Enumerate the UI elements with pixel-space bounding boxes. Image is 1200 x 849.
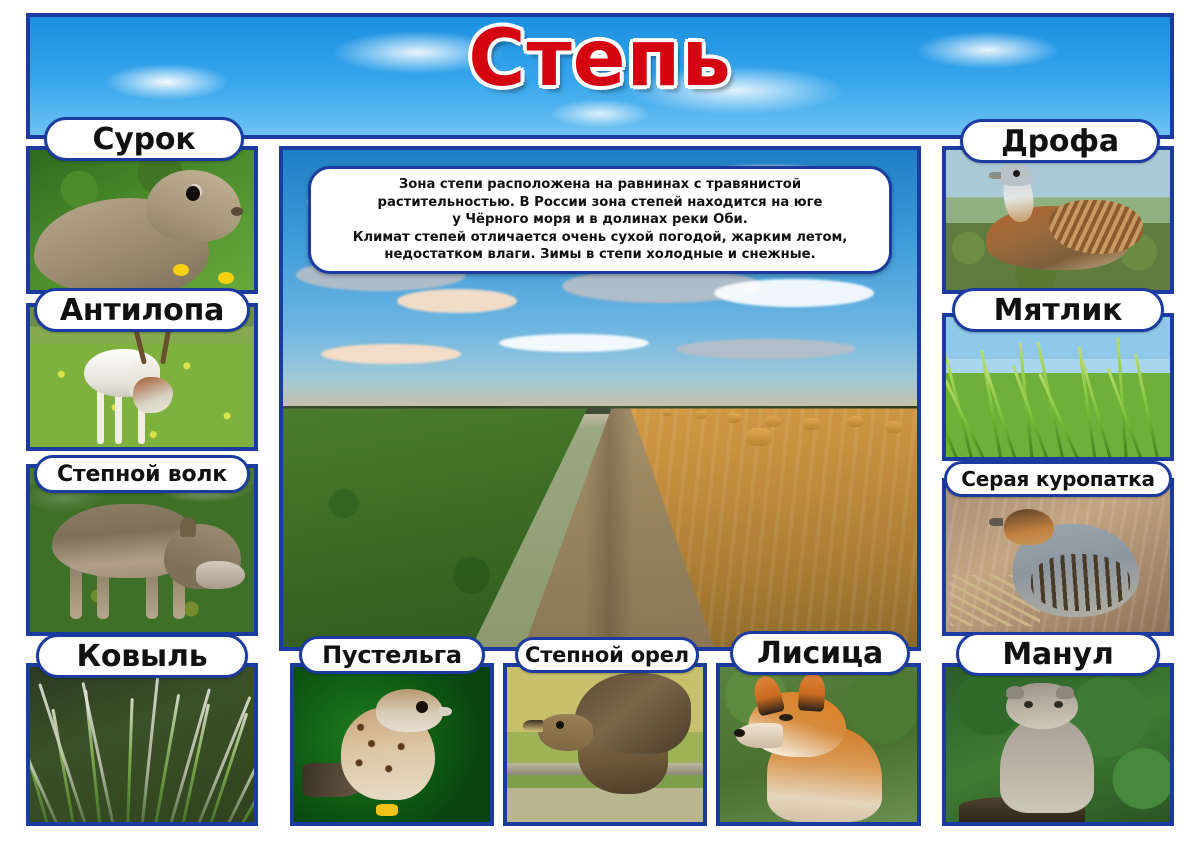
kestrel-foot-shape (376, 804, 398, 816)
manul-ear (1006, 686, 1024, 699)
eagle-wing-shape (574, 673, 692, 754)
partridge-head-shape (1004, 509, 1053, 545)
marmot-photo (30, 150, 254, 290)
wolf-ear (180, 517, 196, 537)
hay-bale (803, 418, 821, 430)
manul-eye (1054, 701, 1063, 708)
eagle-beak-shape (523, 720, 543, 732)
label-text: Степной орел (525, 643, 689, 667)
bustard-photo (946, 150, 1170, 290)
label-text: Антилопа (60, 293, 224, 328)
photo-panel-marmot (26, 146, 258, 294)
label-text: Пустельга (322, 641, 462, 669)
label-grey-partridge[interactable]: Серая куропатка (944, 461, 1172, 497)
label-bustard[interactable]: Дрофа (960, 119, 1160, 163)
label-text: Сурок (92, 122, 195, 157)
label-meadow-grass[interactable]: Мятлик (952, 288, 1164, 332)
partridge-beak-shape (989, 518, 1003, 526)
kestrel-beak-shape (439, 707, 452, 716)
bustard-eye-shape (1013, 170, 1020, 177)
marmot-head-shape (146, 170, 240, 243)
manul-body-shape (1000, 717, 1094, 813)
grass-blade (1133, 353, 1159, 457)
label-text: Ковыль (77, 639, 208, 674)
label-marmot[interactable]: Сурок (44, 117, 244, 161)
label-fox[interactable]: Лисица (730, 631, 910, 675)
hay-bale (695, 411, 706, 419)
fox-eye-shape (779, 714, 793, 721)
grass-blade (126, 698, 134, 822)
label-text: Лисица (757, 636, 883, 671)
antelope-leg (115, 391, 122, 444)
grass-blade (140, 674, 160, 822)
hay-bale (847, 416, 863, 427)
antelope-head-shape (133, 377, 173, 413)
cloud (714, 279, 874, 307)
photo-panel-manul (942, 663, 1174, 826)
feather-grass-photo (30, 667, 254, 822)
photo-panel-eagle (503, 663, 707, 826)
label-steppe-eagle[interactable]: Степной орел (515, 637, 699, 673)
label-steppe-wolf[interactable]: Степной волк (34, 455, 250, 493)
cloud (397, 289, 517, 313)
cloud (321, 344, 461, 364)
label-text: Степной волк (57, 462, 227, 487)
antelope-leg (97, 388, 104, 444)
hay-bale (746, 428, 772, 446)
manul-ear (1056, 686, 1074, 699)
hay-bale (765, 416, 781, 427)
label-text: Мятлик (994, 293, 1123, 328)
page-title: Степь (0, 14, 1200, 104)
label-manul[interactable]: Манул (956, 632, 1160, 676)
label-text: Манул (1002, 637, 1113, 672)
label-feather-grass[interactable]: Ковыль (36, 634, 248, 678)
eagle-head-shape (538, 714, 593, 751)
photo-panel-fox (716, 663, 921, 826)
photo-panel-meadow-grass (942, 313, 1174, 461)
grass-blade (980, 349, 1003, 457)
label-kestrel[interactable]: Пустельга (299, 636, 485, 674)
cloud (499, 334, 649, 352)
grass-blade (30, 695, 62, 822)
grass-blade (1080, 360, 1112, 457)
photo-panel-bustard (942, 146, 1174, 294)
poster-root: Степь (0, 0, 1200, 849)
partridge-photo (946, 482, 1170, 632)
kestrel-eye-shape (416, 701, 428, 713)
kestrel-head-shape (376, 689, 443, 732)
fox-nose-shape (734, 729, 745, 737)
meadow-grass-photo (946, 317, 1170, 457)
manul-photo (946, 667, 1170, 822)
kestrel-photo (294, 667, 490, 822)
label-text: Дрофа (1001, 124, 1119, 159)
photo-panel-feather-grass (26, 663, 258, 826)
grass-blade (207, 713, 248, 822)
label-antelope[interactable]: Антилопа (34, 288, 250, 332)
hay-bale (727, 413, 741, 423)
marmot-nose-shape (231, 207, 243, 216)
photo-panel-kestrel (290, 663, 494, 826)
grass-blade (984, 366, 1018, 457)
wolf-muzzle-shape (196, 561, 245, 589)
bustard-beak-shape (989, 172, 1001, 179)
hay-bale (885, 421, 903, 433)
photo-panel-partridge (942, 478, 1174, 636)
fox-photo (720, 667, 917, 822)
description-box: Зона степи расположена на равнинах с тра… (308, 166, 892, 274)
partridge-stripes (1031, 554, 1130, 611)
yellow-flower (218, 272, 234, 284)
fox-ear (798, 672, 827, 712)
cloud (676, 339, 856, 359)
steppe-eagle-photo (507, 667, 703, 822)
label-text: Серая куропатка (961, 467, 1155, 491)
description-text: Зона степи расположена на равнинах с тра… (353, 176, 848, 263)
